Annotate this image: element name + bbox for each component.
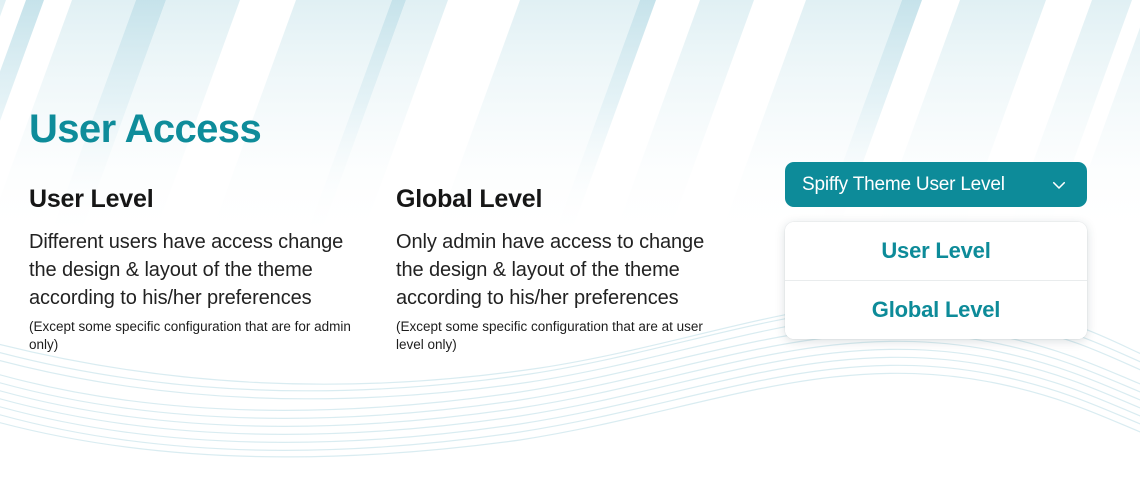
dropdown-option-user-level[interactable]: User Level [785,222,1087,280]
dropdown-option-label: Global Level [872,297,1000,323]
dropdown-toggle-button[interactable]: Spiffy Theme User Level [785,162,1087,207]
global-level-column: Global Level Only admin have access to c… [396,184,726,354]
global-level-note: (Except some specific configuration that… [396,318,718,354]
global-level-heading: Global Level [396,184,726,214]
theme-user-level-dropdown: Spiffy Theme User Level User Level Globa… [785,162,1087,207]
page-title: User Access [29,106,261,152]
dropdown-option-global-level[interactable]: Global Level [785,280,1087,339]
chevron-down-icon [1050,176,1068,194]
dropdown-option-label: User Level [881,238,990,264]
dropdown-selected-label: Spiffy Theme User Level [802,174,1050,196]
user-level-note: (Except some specific configuration that… [29,318,351,354]
user-level-column: User Level Different users have access c… [29,184,359,354]
slide-canvas: User Access User Level Different users h… [0,0,1140,500]
user-level-description: Different users have access change the d… [29,228,347,312]
global-level-description: Only admin have access to change the des… [396,228,714,312]
user-level-heading: User Level [29,184,359,214]
dropdown-menu: User Level Global Level [785,222,1087,339]
